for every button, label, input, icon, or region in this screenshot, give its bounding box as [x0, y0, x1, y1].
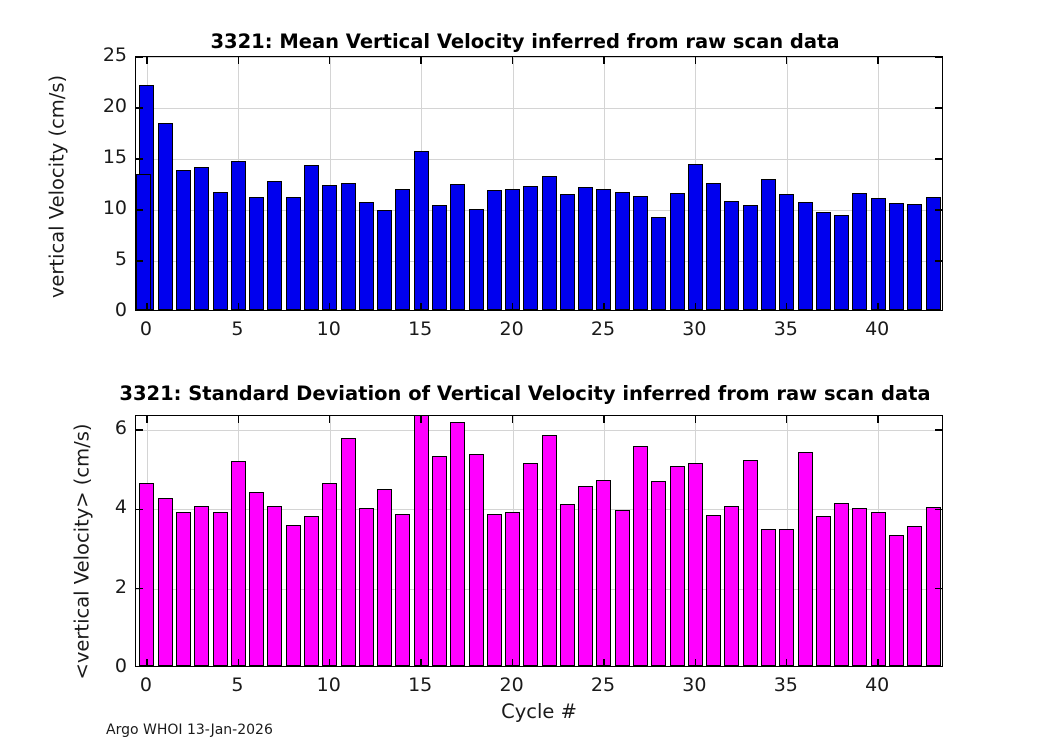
- y-axis-tick-label: 10: [77, 197, 127, 219]
- x-axis-tick: [146, 57, 147, 64]
- x-axis-tick: [420, 416, 421, 423]
- bar: [871, 198, 886, 310]
- x-axis-tick: [877, 303, 878, 310]
- bar: [341, 183, 356, 311]
- bar: [377, 210, 392, 310]
- bar: [743, 205, 758, 310]
- bar: [542, 176, 557, 310]
- bar: [414, 151, 429, 310]
- x-axis-tick: [420, 303, 421, 310]
- x-axis-tick: [786, 303, 787, 310]
- x-axis-tick: [695, 416, 696, 423]
- x-axis-tick: [512, 416, 513, 423]
- bar: [761, 179, 776, 310]
- bar: [615, 192, 630, 310]
- bar: [469, 454, 484, 666]
- bar: [724, 201, 739, 310]
- bar: [158, 123, 173, 310]
- y-axis-tick: [935, 429, 942, 430]
- x-axis-tick: [877, 416, 878, 423]
- x-axis-tick-label: 15: [390, 674, 450, 696]
- bar: [487, 514, 502, 666]
- y-axis-tick-label: 15: [77, 146, 127, 168]
- bar: [852, 193, 867, 310]
- bar: [249, 197, 264, 310]
- bar: [176, 170, 191, 310]
- bar: [286, 197, 301, 310]
- bar: [286, 525, 301, 666]
- x-axis-tick: [329, 57, 330, 64]
- x-axis-tick-label: 10: [299, 318, 359, 340]
- bar: [542, 435, 557, 666]
- bar: [651, 481, 666, 666]
- y-axis-tick: [136, 429, 143, 430]
- bar: [341, 438, 356, 666]
- bar: [688, 463, 703, 666]
- x-axis-tick-label: 5: [207, 318, 267, 340]
- y-axis-tick-label: 20: [77, 95, 127, 117]
- y-axis-tick: [935, 260, 942, 261]
- bar: [523, 186, 538, 310]
- x-axis-tick: [238, 57, 239, 64]
- chart-panel-mean: 3321: Mean Vertical Velocity inferred fr…: [0, 0, 1050, 360]
- x-axis-tick: [512, 57, 513, 64]
- x-axis-tick-label: 20: [482, 318, 542, 340]
- y-axis-tick: [136, 260, 143, 261]
- bar: [213, 192, 228, 310]
- bar: [670, 466, 685, 666]
- x-axis-tick-label: 20: [482, 674, 542, 696]
- bar: [706, 515, 721, 666]
- x-axis-tick-label: 40: [847, 674, 907, 696]
- bar: [596, 189, 611, 310]
- x-axis-tick: [603, 303, 604, 310]
- bar: [231, 461, 246, 666]
- bar: [505, 189, 520, 310]
- y-axis-tick: [136, 209, 143, 210]
- bar: [395, 189, 410, 310]
- x-axis-tick: [329, 416, 330, 423]
- bar: [267, 181, 282, 310]
- bar: [176, 512, 191, 666]
- x-axis-tick: [695, 57, 696, 64]
- bar: [560, 194, 575, 310]
- y-axis-tick: [935, 209, 942, 210]
- bar: [139, 483, 154, 666]
- y-axis-tick: [136, 588, 143, 589]
- bar: [505, 512, 520, 666]
- y-axis-tick: [935, 158, 942, 159]
- bar: [633, 196, 648, 310]
- chart-title-mean: 3321: Mean Vertical Velocity inferred fr…: [0, 30, 1050, 53]
- bar: [450, 184, 465, 310]
- bar: [578, 486, 593, 666]
- x-axis-tick: [238, 303, 239, 310]
- y-axis-tick: [935, 107, 942, 108]
- bar: [907, 204, 922, 310]
- bar: [798, 202, 813, 310]
- x-axis-tick: [238, 659, 239, 666]
- gridline-horizontal: [136, 159, 942, 160]
- x-axis-tick: [146, 659, 147, 666]
- x-axis-tick: [420, 659, 421, 666]
- bar: [779, 194, 794, 310]
- x-axis-tick: [329, 659, 330, 666]
- bar: [523, 463, 538, 666]
- bar: [578, 187, 593, 310]
- y-axis-tick-label: 2: [77, 576, 127, 598]
- x-axis-tick-label: 25: [573, 318, 633, 340]
- x-axis-tick: [420, 57, 421, 64]
- x-axis-tick: [512, 303, 513, 310]
- bar: [487, 190, 502, 310]
- bar: [761, 529, 776, 666]
- bar: [816, 516, 831, 666]
- bar: [871, 512, 886, 666]
- y-axis-label-mean: vertical Velocity (cm/s): [46, 72, 69, 302]
- x-axis-tick-label: 0: [116, 674, 176, 696]
- bar: [432, 456, 447, 666]
- bar: [231, 161, 246, 310]
- x-axis-tick: [695, 659, 696, 666]
- x-axis-tick-label: 30: [664, 674, 724, 696]
- y-axis-tick: [136, 56, 143, 57]
- x-axis-tick: [146, 303, 147, 310]
- y-axis-tick: [136, 107, 143, 108]
- y-axis-tick-label: 5: [77, 248, 127, 270]
- x-axis-tick-label: 25: [573, 674, 633, 696]
- bar: [249, 492, 264, 666]
- bar: [432, 205, 447, 310]
- bar: [395, 514, 410, 666]
- bar: [304, 165, 319, 310]
- x-axis-tick-label: 40: [847, 318, 907, 340]
- y-axis-tick: [935, 56, 942, 57]
- y-axis-label-std: <vertical Velocity> (cm/s): [71, 407, 94, 697]
- x-axis-tick: [603, 57, 604, 64]
- bar: [852, 508, 867, 666]
- bar: [322, 483, 337, 666]
- bar: [651, 217, 666, 310]
- gridline-horizontal: [136, 57, 942, 58]
- bar: [743, 460, 758, 666]
- x-axis-tick-label: 35: [756, 674, 816, 696]
- bar: [213, 512, 228, 666]
- y-axis-tick: [935, 509, 942, 510]
- x-axis-tick: [695, 303, 696, 310]
- gridline-horizontal: [136, 430, 942, 431]
- figure-canvas: 3321: Mean Vertical Velocity inferred fr…: [0, 0, 1050, 750]
- bar: [724, 506, 739, 666]
- x-axis-tick-label: 10: [299, 674, 359, 696]
- chart-panel-std: 3321: Standard Deviation of Vertical Vel…: [0, 360, 1050, 750]
- x-axis-tick: [786, 659, 787, 666]
- bar: [706, 183, 721, 311]
- bar: [798, 452, 813, 666]
- x-axis-tick: [512, 659, 513, 666]
- bar: [615, 510, 630, 666]
- bar: [194, 506, 209, 666]
- bar: [889, 203, 904, 310]
- x-axis-label: Cycle #: [135, 700, 943, 723]
- bar: [450, 422, 465, 666]
- bar: [304, 516, 319, 666]
- x-axis-tick: [329, 303, 330, 310]
- bar: [469, 209, 484, 310]
- bar: [688, 164, 703, 310]
- bar: [359, 202, 374, 310]
- x-axis-tick: [146, 416, 147, 423]
- x-axis-tick: [238, 416, 239, 423]
- bar: [560, 504, 575, 666]
- x-axis-tick: [877, 57, 878, 64]
- bar: [322, 185, 337, 310]
- y-axis-tick-label: 4: [77, 496, 127, 518]
- bar: [633, 446, 648, 666]
- bar: [359, 508, 374, 666]
- x-axis-tick-label: 35: [756, 318, 816, 340]
- chart-title-std: 3321: Standard Deviation of Vertical Vel…: [0, 382, 1050, 405]
- figure-footer: Argo WHOI 13-Jan-2026: [106, 722, 273, 738]
- x-axis-tick-label: 30: [664, 318, 724, 340]
- bar: [158, 498, 173, 666]
- bar: [834, 215, 849, 310]
- x-axis-tick-label: 0: [116, 318, 176, 340]
- bar: [889, 535, 904, 666]
- bar: [926, 197, 941, 310]
- bar: [907, 526, 922, 666]
- bar: [136, 174, 151, 310]
- x-axis-tick: [603, 416, 604, 423]
- x-axis-tick: [786, 416, 787, 423]
- y-axis-tick-label: 25: [77, 44, 127, 66]
- x-axis-tick: [786, 57, 787, 64]
- y-axis-tick: [136, 509, 143, 510]
- x-axis-tick-label: 15: [390, 318, 450, 340]
- bar: [670, 193, 685, 310]
- bar: [834, 503, 849, 667]
- gridline-horizontal: [136, 108, 942, 109]
- x-axis-tick-label: 5: [207, 674, 267, 696]
- x-axis-tick: [603, 659, 604, 666]
- y-axis-tick: [136, 158, 143, 159]
- bar: [816, 212, 831, 310]
- bar: [377, 489, 392, 666]
- bar: [779, 529, 794, 666]
- bar: [267, 506, 282, 666]
- y-axis-tick-label: 6: [77, 417, 127, 439]
- bar: [596, 480, 611, 666]
- bar: [414, 415, 429, 666]
- bar: [194, 167, 209, 310]
- plot-area-mean: [135, 56, 943, 311]
- plot-area-std: [135, 415, 943, 667]
- x-axis-tick: [877, 659, 878, 666]
- y-axis-tick: [935, 588, 942, 589]
- bar: [926, 507, 941, 666]
